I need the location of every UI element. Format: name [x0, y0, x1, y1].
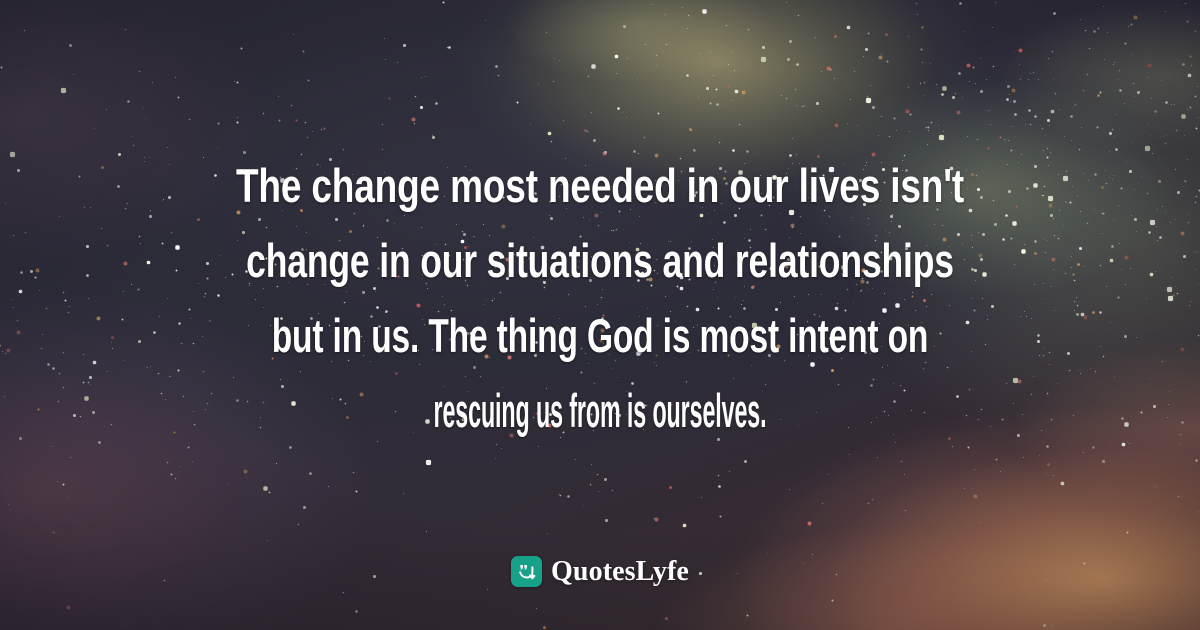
quote-line-2: change in our situations and relationshi…	[245, 223, 955, 298]
quote-line-4: rescuing us from is ourselves.	[367, 373, 832, 448]
quote-line-1: The change most needed in our lives isn'…	[230, 148, 970, 223]
quote-text-block: The change most needed in our lives isn'…	[0, 148, 1200, 448]
quote-line-3: but in us. The thing God is most intent …	[265, 298, 935, 373]
brand-name: QuotesLyfe	[551, 556, 689, 587]
quote-card: The change most needed in our lives isn'…	[0, 0, 1200, 630]
brand-logo[interactable]: QuotesLyfe	[0, 556, 1200, 587]
quote-smiley-icon	[511, 556, 542, 587]
